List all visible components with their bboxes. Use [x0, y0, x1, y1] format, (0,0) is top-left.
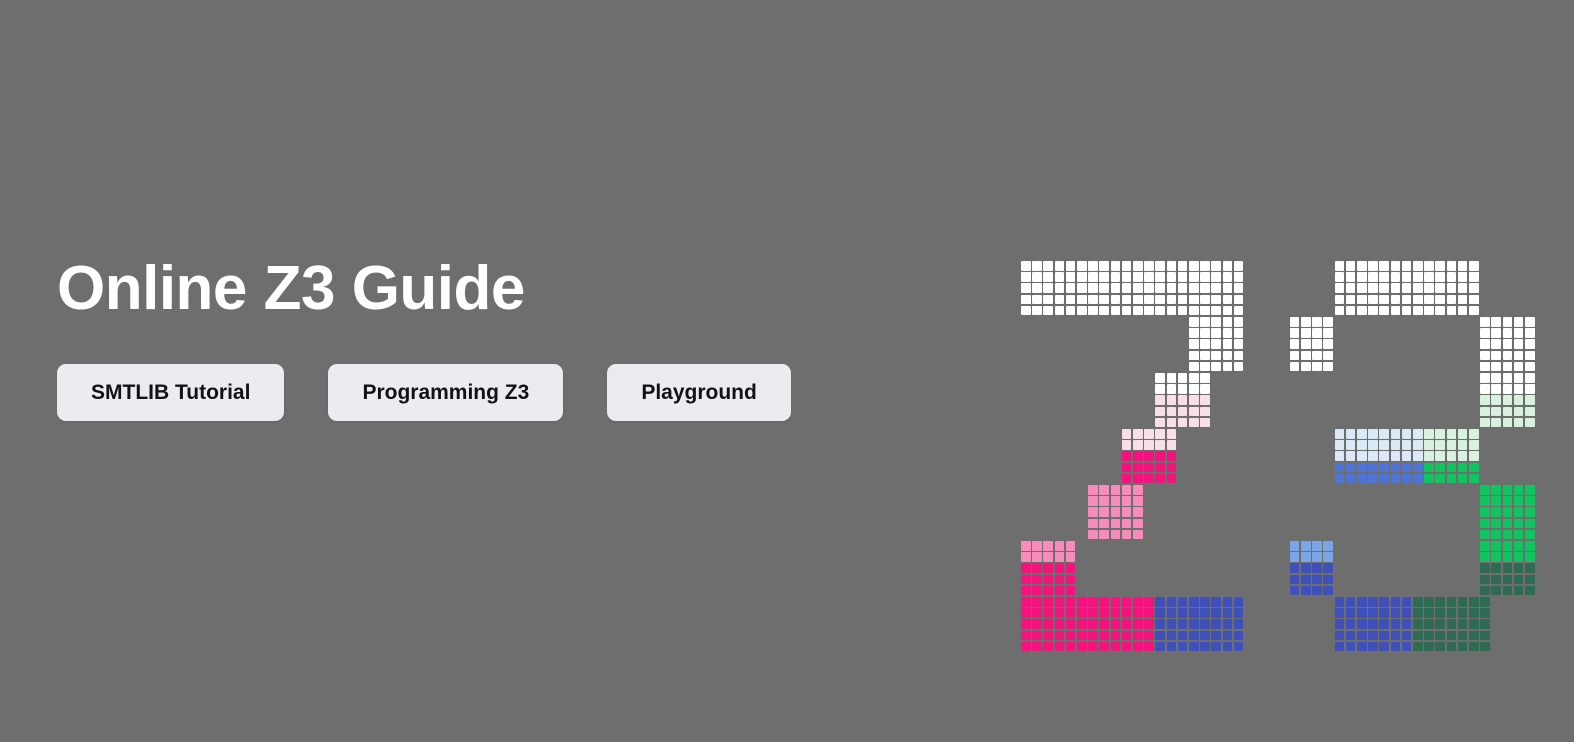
- logo-pixel: [1234, 631, 1244, 641]
- logo-pixel: [1144, 429, 1154, 439]
- logo-pixel: [1211, 306, 1221, 316]
- logo-pixel: [1077, 642, 1087, 652]
- logo-pixel: [1021, 619, 1031, 629]
- logo-pixel: [1447, 295, 1457, 305]
- logo-pixel: [1178, 407, 1188, 417]
- logo-pixel: [1099, 597, 1109, 607]
- logo-pixel: [1514, 485, 1524, 495]
- logo-pixel: [1312, 317, 1322, 327]
- logo-pixel: [1346, 474, 1356, 484]
- logo-pixel: [1413, 429, 1423, 439]
- logo-pixel: [1200, 283, 1210, 293]
- logo-pixel: [1491, 575, 1501, 585]
- logo-pixel: [1346, 619, 1356, 629]
- logo-pixel: [1312, 541, 1322, 551]
- logo-pixel: [1178, 395, 1188, 405]
- logo-pixel: [1368, 463, 1378, 473]
- logo-pixel: [1167, 642, 1177, 652]
- logo-pixel: [1088, 507, 1098, 517]
- logo-pixel: [1391, 429, 1401, 439]
- logo-pixel: [1424, 474, 1434, 484]
- logo-pixel: [1335, 631, 1345, 641]
- logo-pixel: [1346, 451, 1356, 461]
- logo-pixel: [1155, 429, 1165, 439]
- logo-pixel: [1447, 272, 1457, 282]
- logo-pixel: [1133, 496, 1143, 506]
- logo-pixel: [1480, 395, 1490, 405]
- logo-pixel: [1402, 597, 1412, 607]
- logo-pixel: [1077, 272, 1087, 282]
- logo-pixel: [1021, 306, 1031, 316]
- logo-pixel: [1021, 586, 1031, 596]
- logo-pixel: [1480, 586, 1490, 596]
- logo-pixel: [1111, 642, 1121, 652]
- logo-pixel: [1032, 575, 1042, 585]
- logo-pixel: [1323, 552, 1333, 562]
- page-title: Online Z3 Guide: [57, 258, 957, 320]
- logo-pixel: [1111, 631, 1121, 641]
- logo-pixel: [1480, 317, 1490, 327]
- z3-pixel-logo: [1021, 261, 1521, 591]
- logo-pixel: [1503, 407, 1513, 417]
- logo-pixel: [1144, 451, 1154, 461]
- logo-pixel: [1357, 463, 1367, 473]
- logo-pixel: [1368, 261, 1378, 271]
- logo-pixel: [1055, 541, 1065, 551]
- logo-pixel: [1032, 563, 1042, 573]
- logo-pixel: [1211, 597, 1221, 607]
- logo-pixel: [1189, 631, 1199, 641]
- logo-pixel: [1379, 283, 1389, 293]
- logo-pixel: [1032, 608, 1042, 618]
- logo-pixel: [1234, 642, 1244, 652]
- logo-pixel: [1424, 440, 1434, 450]
- logo-pixel: [1122, 283, 1132, 293]
- logo-pixel: [1525, 373, 1535, 383]
- logo-pixel: [1402, 642, 1412, 652]
- logo-pixel: [1368, 283, 1378, 293]
- logo-pixel: [1155, 440, 1165, 450]
- logo-pixel: [1021, 642, 1031, 652]
- logo-pixel: [1167, 407, 1177, 417]
- logo-pixel: [1514, 384, 1524, 394]
- logo-pixel: [1301, 552, 1311, 562]
- logo-pixel: [1066, 642, 1076, 652]
- logo-pixel: [1435, 631, 1445, 641]
- logo-pixel: [1155, 295, 1165, 305]
- logo-pixel: [1346, 295, 1356, 305]
- logo-pixel: [1234, 261, 1244, 271]
- logo-pixel: [1413, 306, 1423, 316]
- logo-pixel: [1379, 295, 1389, 305]
- logo-pixel: [1469, 619, 1479, 629]
- logo-pixel: [1391, 295, 1401, 305]
- logo-pixel: [1189, 317, 1199, 327]
- logo-pixel: [1525, 362, 1535, 372]
- logo-pixel: [1503, 530, 1513, 540]
- logo-pixel: [1032, 283, 1042, 293]
- logo-pixel: [1514, 373, 1524, 383]
- logo-pixel: [1167, 295, 1177, 305]
- logo-pixel: [1312, 586, 1322, 596]
- logo-pixel: [1301, 351, 1311, 361]
- logo-pixel: [1234, 306, 1244, 316]
- logo-pixel: [1211, 339, 1221, 349]
- logo-pixel: [1133, 261, 1143, 271]
- logo-pixel: [1525, 519, 1535, 529]
- logo-pixel: [1290, 317, 1300, 327]
- logo-pixel: [1480, 339, 1490, 349]
- logo-pixel: [1379, 619, 1389, 629]
- logo-pixel: [1066, 597, 1076, 607]
- logo-pixel: [1200, 295, 1210, 305]
- logo-pixel: [1200, 608, 1210, 618]
- logo-pixel: [1189, 306, 1199, 316]
- logo-pixel: [1301, 541, 1311, 551]
- logo-pixel: [1122, 530, 1132, 540]
- logo-pixel: [1077, 283, 1087, 293]
- logo-pixel: [1234, 272, 1244, 282]
- logo-pixel: [1469, 429, 1479, 439]
- logo-pixel: [1144, 642, 1154, 652]
- logo-pixel: [1223, 283, 1233, 293]
- logo-pixel: [1514, 362, 1524, 372]
- logo-pixel: [1335, 463, 1345, 473]
- logo-pixel: [1357, 631, 1367, 641]
- logo-pixel: [1424, 631, 1434, 641]
- logo-pixel: [1301, 317, 1311, 327]
- logo-pixel: [1323, 362, 1333, 372]
- logo-pixel: [1144, 463, 1154, 473]
- logo-pixel: [1167, 451, 1177, 461]
- logo-pixel: [1021, 295, 1031, 305]
- logo-pixel: [1122, 631, 1132, 641]
- logo-pixel: [1133, 283, 1143, 293]
- logo-pixel: [1447, 631, 1457, 641]
- logo-pixel: [1167, 631, 1177, 641]
- hero-section: Online Z3 Guide SMTLIB TutorialProgrammi…: [0, 0, 1574, 742]
- logo-pixel: [1368, 631, 1378, 641]
- logo-pixel: [1368, 451, 1378, 461]
- logo-pixel: [1424, 463, 1434, 473]
- logo-pixel: [1066, 631, 1076, 641]
- logo-pixel: [1234, 283, 1244, 293]
- logo-pixel: [1234, 608, 1244, 618]
- logo-pixel: [1391, 440, 1401, 450]
- logo-pixel: [1424, 619, 1434, 629]
- logo-pixel: [1099, 306, 1109, 316]
- logo-pixel: [1346, 631, 1356, 641]
- logo-pixel: [1144, 272, 1154, 282]
- logo-pixel: [1122, 519, 1132, 529]
- logo-pixel: [1144, 608, 1154, 618]
- logo-pixel: [1032, 631, 1042, 641]
- logo-pixel: [1211, 272, 1221, 282]
- logo-pixel: [1167, 384, 1177, 394]
- logo-pixel: [1066, 619, 1076, 629]
- logo-pixel: [1469, 451, 1479, 461]
- logo-pixel: [1189, 395, 1199, 405]
- logo-pixel: [1211, 351, 1221, 361]
- logo-pixel: [1088, 485, 1098, 495]
- logo-pixel: [1144, 306, 1154, 316]
- logo-pixel: [1491, 519, 1501, 529]
- logo-pixel: [1290, 339, 1300, 349]
- logo-pixel: [1178, 608, 1188, 618]
- logo-pixel: [1055, 272, 1065, 282]
- logo-pixel: [1491, 552, 1501, 562]
- logo-pixel: [1469, 463, 1479, 473]
- logo-pixel: [1155, 619, 1165, 629]
- logo-pixel: [1335, 597, 1345, 607]
- logo-pixel: [1335, 642, 1345, 652]
- logo-pixel: [1368, 608, 1378, 618]
- logo-pixel: [1379, 642, 1389, 652]
- logo-pixel: [1503, 507, 1513, 517]
- logo-pixel: [1402, 631, 1412, 641]
- logo-pixel: [1391, 272, 1401, 282]
- logo-pixel: [1234, 339, 1244, 349]
- logo-pixel: [1099, 642, 1109, 652]
- logo-pixel: [1032, 306, 1042, 316]
- logo-pixel: [1167, 463, 1177, 473]
- logo-pixel: [1088, 261, 1098, 271]
- logo-pixel: [1021, 597, 1031, 607]
- logo-pixel: [1458, 463, 1468, 473]
- logo-pixel: [1491, 586, 1501, 596]
- logo-pixel: [1525, 328, 1535, 338]
- logo-pixel: [1368, 272, 1378, 282]
- logo-pixel: [1189, 384, 1199, 394]
- logo-pixel: [1301, 563, 1311, 573]
- logo-pixel: [1312, 351, 1322, 361]
- logo-pixel: [1234, 295, 1244, 305]
- logo-pixel: [1178, 418, 1188, 428]
- logo-pixel: [1099, 485, 1109, 495]
- logo-pixel: [1458, 642, 1468, 652]
- logo-pixel: [1043, 586, 1053, 596]
- logo-pixel: [1413, 295, 1423, 305]
- logo-pixel: [1133, 451, 1143, 461]
- programming-z3-button[interactable]: Programming Z3: [328, 364, 563, 421]
- logo-pixel: [1155, 306, 1165, 316]
- logo-pixel: [1088, 530, 1098, 540]
- logo-pixel: [1043, 608, 1053, 618]
- logo-pixel: [1514, 552, 1524, 562]
- logo-pixel: [1435, 608, 1445, 618]
- logo-pixel: [1346, 440, 1356, 450]
- logo-pixel: [1200, 339, 1210, 349]
- logo-pixel: [1424, 597, 1434, 607]
- logo-pixel: [1480, 519, 1490, 529]
- logo-pixel: [1491, 507, 1501, 517]
- logo-pixel: [1491, 485, 1501, 495]
- logo-pixel: [1133, 306, 1143, 316]
- logo-pixel: [1424, 608, 1434, 618]
- logo-pixel: [1469, 272, 1479, 282]
- logo-pixel: [1155, 474, 1165, 484]
- logo-pixel: [1055, 586, 1065, 596]
- logo-pixel: [1435, 451, 1445, 461]
- logo-pixel: [1480, 575, 1490, 585]
- logo-pixel: [1379, 272, 1389, 282]
- logo-pixel: [1335, 608, 1345, 618]
- logo-pixel: [1133, 519, 1143, 529]
- logo-pixel: [1021, 283, 1031, 293]
- logo-pixel: [1223, 619, 1233, 629]
- logo-pixel: [1469, 474, 1479, 484]
- logo-pixel: [1055, 631, 1065, 641]
- logo-pixel: [1290, 552, 1300, 562]
- logo-pixel: [1323, 328, 1333, 338]
- logo-pixel: [1290, 328, 1300, 338]
- logo-pixel: [1021, 608, 1031, 618]
- logo-pixel: [1088, 608, 1098, 618]
- logo-pixel: [1447, 261, 1457, 271]
- logo-pixel: [1043, 541, 1053, 551]
- logo-pixel: [1491, 496, 1501, 506]
- logo-pixel: [1391, 306, 1401, 316]
- logo-pixel: [1077, 261, 1087, 271]
- logo-pixel: [1503, 496, 1513, 506]
- logo-pixel: [1469, 440, 1479, 450]
- logo-pixel: [1335, 261, 1345, 271]
- logo-pixel: [1155, 272, 1165, 282]
- logo-pixel: [1525, 485, 1535, 495]
- logo-pixel: [1122, 608, 1132, 618]
- logo-pixel: [1122, 619, 1132, 629]
- logo-pixel: [1503, 418, 1513, 428]
- logo-pixel: [1402, 619, 1412, 629]
- logo-pixel: [1032, 597, 1042, 607]
- logo-pixel: [1379, 306, 1389, 316]
- logo-pixel: [1357, 272, 1367, 282]
- logo-pixel: [1032, 272, 1042, 282]
- logo-pixel: [1122, 261, 1132, 271]
- logo-pixel: [1167, 619, 1177, 629]
- logo-pixel: [1435, 597, 1445, 607]
- logo-pixel: [1346, 306, 1356, 316]
- logo-pixel: [1133, 440, 1143, 450]
- logo-pixel: [1447, 451, 1457, 461]
- logo-pixel: [1368, 474, 1378, 484]
- logo-pixel: [1043, 283, 1053, 293]
- logo-pixel: [1043, 597, 1053, 607]
- logo-pixel: [1435, 474, 1445, 484]
- logo-pixel: [1424, 451, 1434, 461]
- logo-pixel: [1155, 597, 1165, 607]
- logo-pixel: [1021, 541, 1031, 551]
- logo-pixel: [1335, 619, 1345, 629]
- logo-pixel: [1122, 507, 1132, 517]
- logo-pixel: [1391, 608, 1401, 618]
- logo-pixel: [1525, 541, 1535, 551]
- logo-pixel: [1055, 619, 1065, 629]
- logo-pixel: [1043, 619, 1053, 629]
- logo-pixel: [1525, 507, 1535, 517]
- logo-pixel: [1032, 541, 1042, 551]
- logo-pixel: [1133, 429, 1143, 439]
- logo-pixel: [1514, 317, 1524, 327]
- logo-pixel: [1133, 463, 1143, 473]
- logo-pixel: [1447, 283, 1457, 293]
- logo-pixel: [1133, 597, 1143, 607]
- logo-pixel: [1491, 407, 1501, 417]
- logo-pixel: [1032, 586, 1042, 596]
- nav-button-group: SMTLIB TutorialProgramming Z3Playground: [57, 364, 957, 421]
- logo-pixel: [1290, 563, 1300, 573]
- logo-pixel: [1503, 317, 1513, 327]
- logo-pixel: [1503, 485, 1513, 495]
- logo-pixel: [1346, 272, 1356, 282]
- logo-pixel: [1458, 429, 1468, 439]
- logo-pixel: [1447, 440, 1457, 450]
- logo-pixel: [1111, 496, 1121, 506]
- logo-pixel: [1122, 306, 1132, 316]
- logo-pixel: [1480, 362, 1490, 372]
- logo-pixel: [1323, 586, 1333, 596]
- logo-pixel: [1346, 283, 1356, 293]
- logo-pixel: [1357, 306, 1367, 316]
- logo-pixel: [1077, 631, 1087, 641]
- logo-pixel: [1435, 619, 1445, 629]
- logo-pixel: [1167, 440, 1177, 450]
- logo-pixel: [1178, 642, 1188, 652]
- logo-pixel: [1055, 575, 1065, 585]
- logo-pixel: [1099, 507, 1109, 517]
- logo-pixel: [1469, 631, 1479, 641]
- logo-pixel: [1189, 295, 1199, 305]
- logo-pixel: [1066, 541, 1076, 551]
- logo-pixel: [1144, 295, 1154, 305]
- logo-pixel: [1043, 575, 1053, 585]
- logo-pixel: [1480, 328, 1490, 338]
- logo-pixel: [1301, 328, 1311, 338]
- logo-pixel: [1402, 306, 1412, 316]
- playground-button[interactable]: Playground: [607, 364, 791, 421]
- logo-pixel: [1391, 619, 1401, 629]
- logo-pixel: [1491, 339, 1501, 349]
- logo-pixel: [1379, 429, 1389, 439]
- logo-pixel: [1480, 563, 1490, 573]
- logo-pixel: [1223, 295, 1233, 305]
- logo-pixel: [1167, 418, 1177, 428]
- logo-pixel: [1211, 295, 1221, 305]
- logo-pixel: [1503, 575, 1513, 585]
- logo-pixel: [1122, 272, 1132, 282]
- logo-pixel: [1301, 339, 1311, 349]
- logo-pixel: [1402, 295, 1412, 305]
- logo-pixel: [1122, 429, 1132, 439]
- logo-pixel: [1178, 306, 1188, 316]
- logo-pixel: [1447, 306, 1457, 316]
- logo-pixel: [1346, 261, 1356, 271]
- logo-pixel: [1144, 631, 1154, 641]
- logo-pixel: [1055, 552, 1065, 562]
- logo-pixel: [1480, 496, 1490, 506]
- smtlib-tutorial-button[interactable]: SMTLIB Tutorial: [57, 364, 284, 421]
- logo-pixel: [1290, 541, 1300, 551]
- logo-pixel: [1111, 295, 1121, 305]
- logo-pixel: [1335, 440, 1345, 450]
- logo-pixel: [1469, 283, 1479, 293]
- logo-pixel: [1055, 563, 1065, 573]
- logo-pixel: [1122, 496, 1132, 506]
- logo-pixel: [1234, 317, 1244, 327]
- logo-pixel: [1178, 261, 1188, 271]
- logo-pixel: [1290, 351, 1300, 361]
- logo-pixel: [1413, 272, 1423, 282]
